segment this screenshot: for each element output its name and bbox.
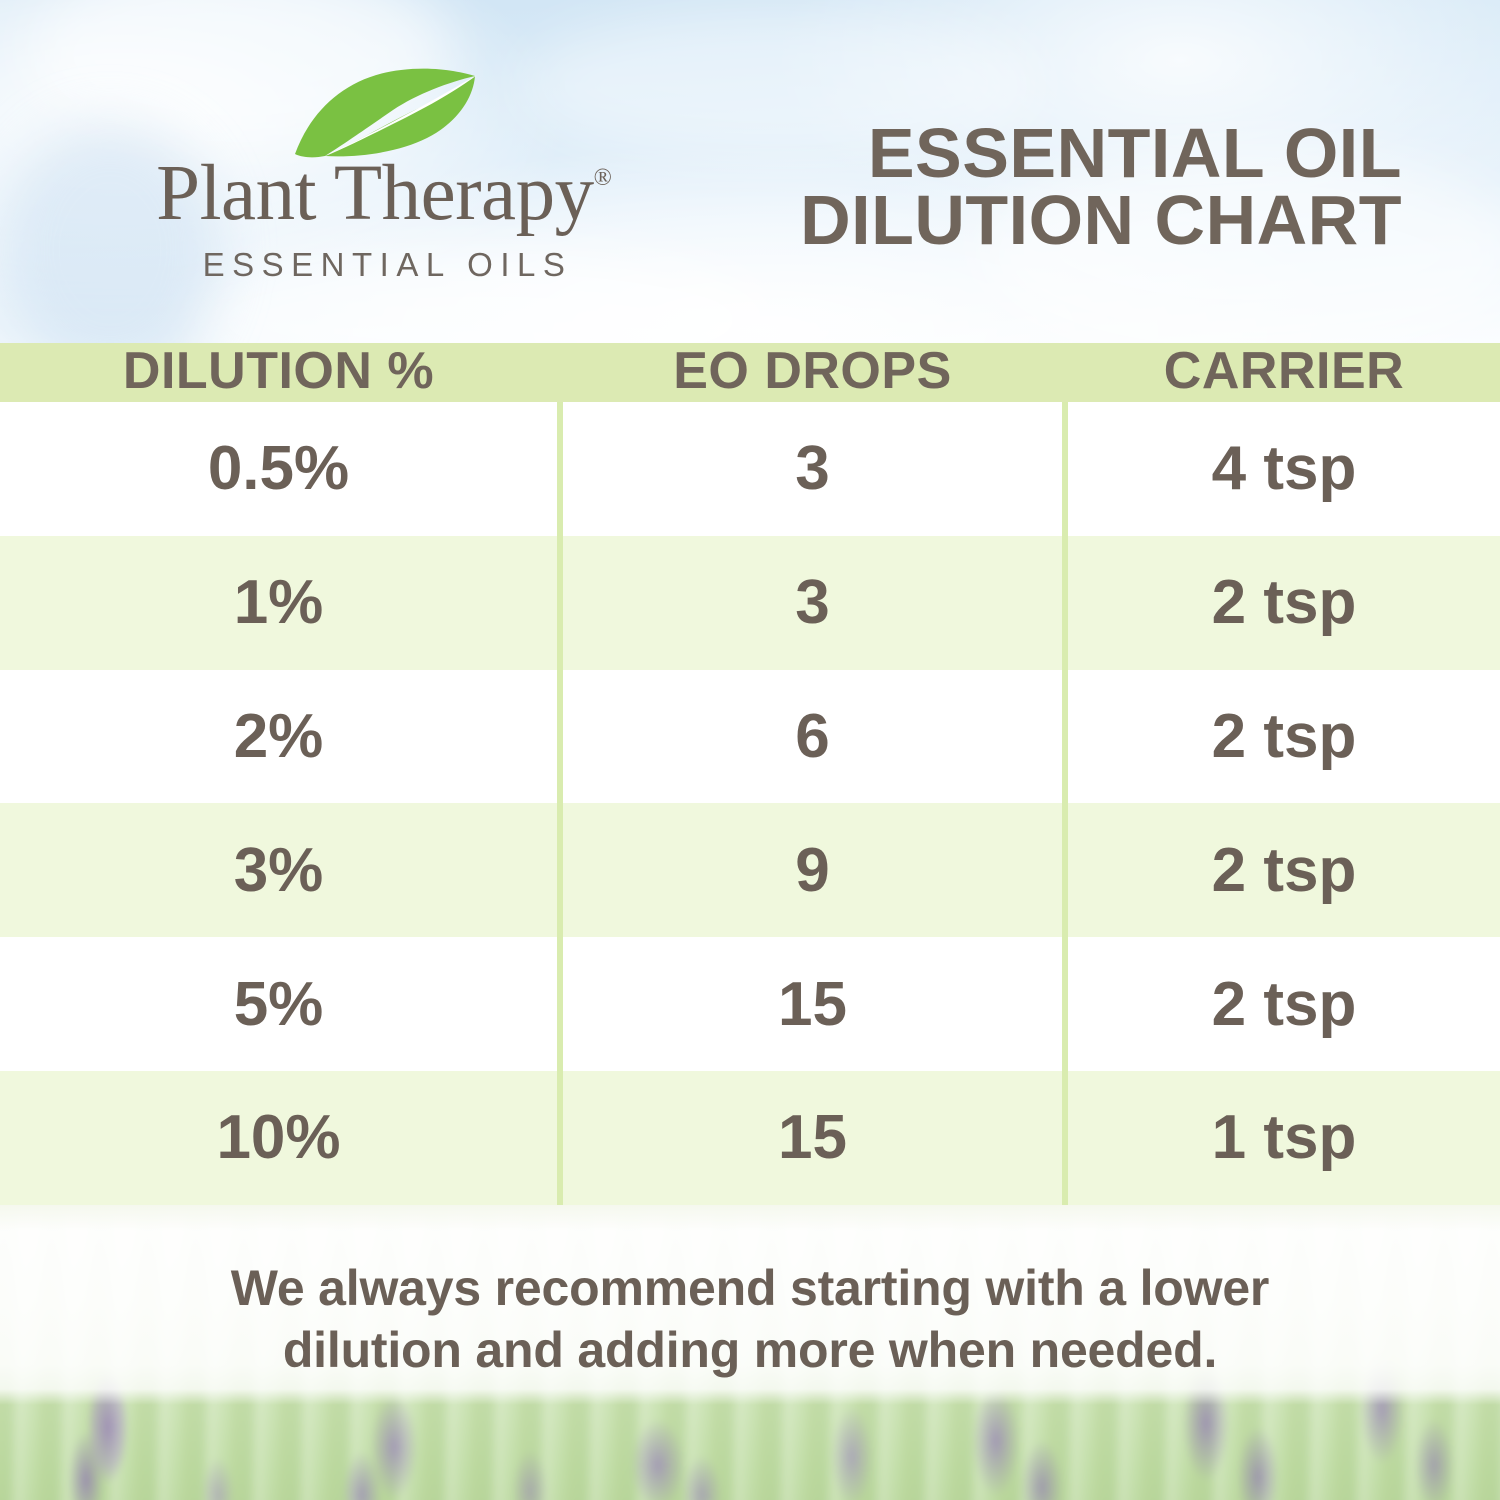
page-title-line-1: ESSENTIAL OIL: [800, 120, 1402, 187]
leaf-icon: [289, 66, 479, 158]
column-divider: [1062, 402, 1068, 1205]
column-header-dilution: DILUTION %: [0, 343, 557, 402]
table-row: 2% 6 2 tsp: [0, 670, 1500, 804]
cell-dilution: 5%: [0, 937, 557, 1071]
cell-eo-drops: 3: [563, 402, 1062, 536]
page-title-line-2: DILUTION CHART: [800, 187, 1402, 254]
table-header-row: DILUTION % EO DROPS CARRIER: [0, 343, 1500, 402]
table-row: 10% 15 1 tsp: [0, 1071, 1500, 1205]
dilution-table: DILUTION % EO DROPS CARRIER 0.5% 3 4 tsp…: [0, 343, 1500, 1205]
cell-eo-drops: 6: [563, 670, 1062, 804]
cell-carrier: 2 tsp: [1068, 536, 1500, 670]
cell-carrier: 1 tsp: [1068, 1071, 1500, 1205]
brand-tagline: ESSENTIAL OILS: [104, 246, 664, 284]
page-title: ESSENTIAL OIL DILUTION CHART: [800, 120, 1402, 254]
column-divider: [557, 402, 563, 1205]
dilution-chart-infographic: Plant Therapy® ESSENTIAL OILS ESSENTIAL …: [0, 0, 1500, 1500]
footer-note-line-2: dilution and adding more when needed.: [0, 1319, 1500, 1381]
cell-eo-drops: 15: [563, 1071, 1062, 1205]
registered-trademark-icon: ®: [594, 165, 612, 191]
brand-name: Plant Therapy®: [104, 154, 664, 233]
table-body: 0.5% 3 4 tsp 1% 3 2 tsp 2% 6 2 tsp 3% 9 …: [0, 402, 1500, 1205]
table-row: 0.5% 3 4 tsp: [0, 402, 1500, 536]
brand-name-text: Plant Therapy: [156, 150, 593, 237]
brand-logo: Plant Therapy® ESSENTIAL OILS: [104, 66, 664, 281]
cell-eo-drops: 9: [563, 803, 1062, 937]
table-row: 1% 3 2 tsp: [0, 536, 1500, 670]
column-header-carrier: CARRIER: [1068, 343, 1500, 402]
cell-dilution: 0.5%: [0, 402, 557, 536]
footer-note-line-1: We always recommend starting with a lowe…: [0, 1257, 1500, 1319]
table-row: 3% 9 2 tsp: [0, 803, 1500, 937]
cell-eo-drops: 3: [563, 536, 1062, 670]
column-header-eo-drops: EO DROPS: [563, 343, 1062, 402]
header-banner: Plant Therapy® ESSENTIAL OILS ESSENTIAL …: [0, 0, 1500, 343]
cell-dilution: 1%: [0, 536, 557, 670]
cell-dilution: 3%: [0, 803, 557, 937]
footer-banner: We always recommend starting with a lowe…: [0, 1205, 1500, 1500]
cell-dilution: 10%: [0, 1071, 557, 1205]
cell-carrier: 2 tsp: [1068, 937, 1500, 1071]
cell-eo-drops: 15: [563, 937, 1062, 1071]
table-row: 5% 15 2 tsp: [0, 937, 1500, 1071]
cell-carrier: 2 tsp: [1068, 803, 1500, 937]
cell-carrier: 4 tsp: [1068, 402, 1500, 536]
footer-note: We always recommend starting with a lowe…: [0, 1257, 1500, 1381]
cell-dilution: 2%: [0, 670, 557, 804]
cell-carrier: 2 tsp: [1068, 670, 1500, 804]
image-top-fade: [0, 1205, 1500, 1231]
